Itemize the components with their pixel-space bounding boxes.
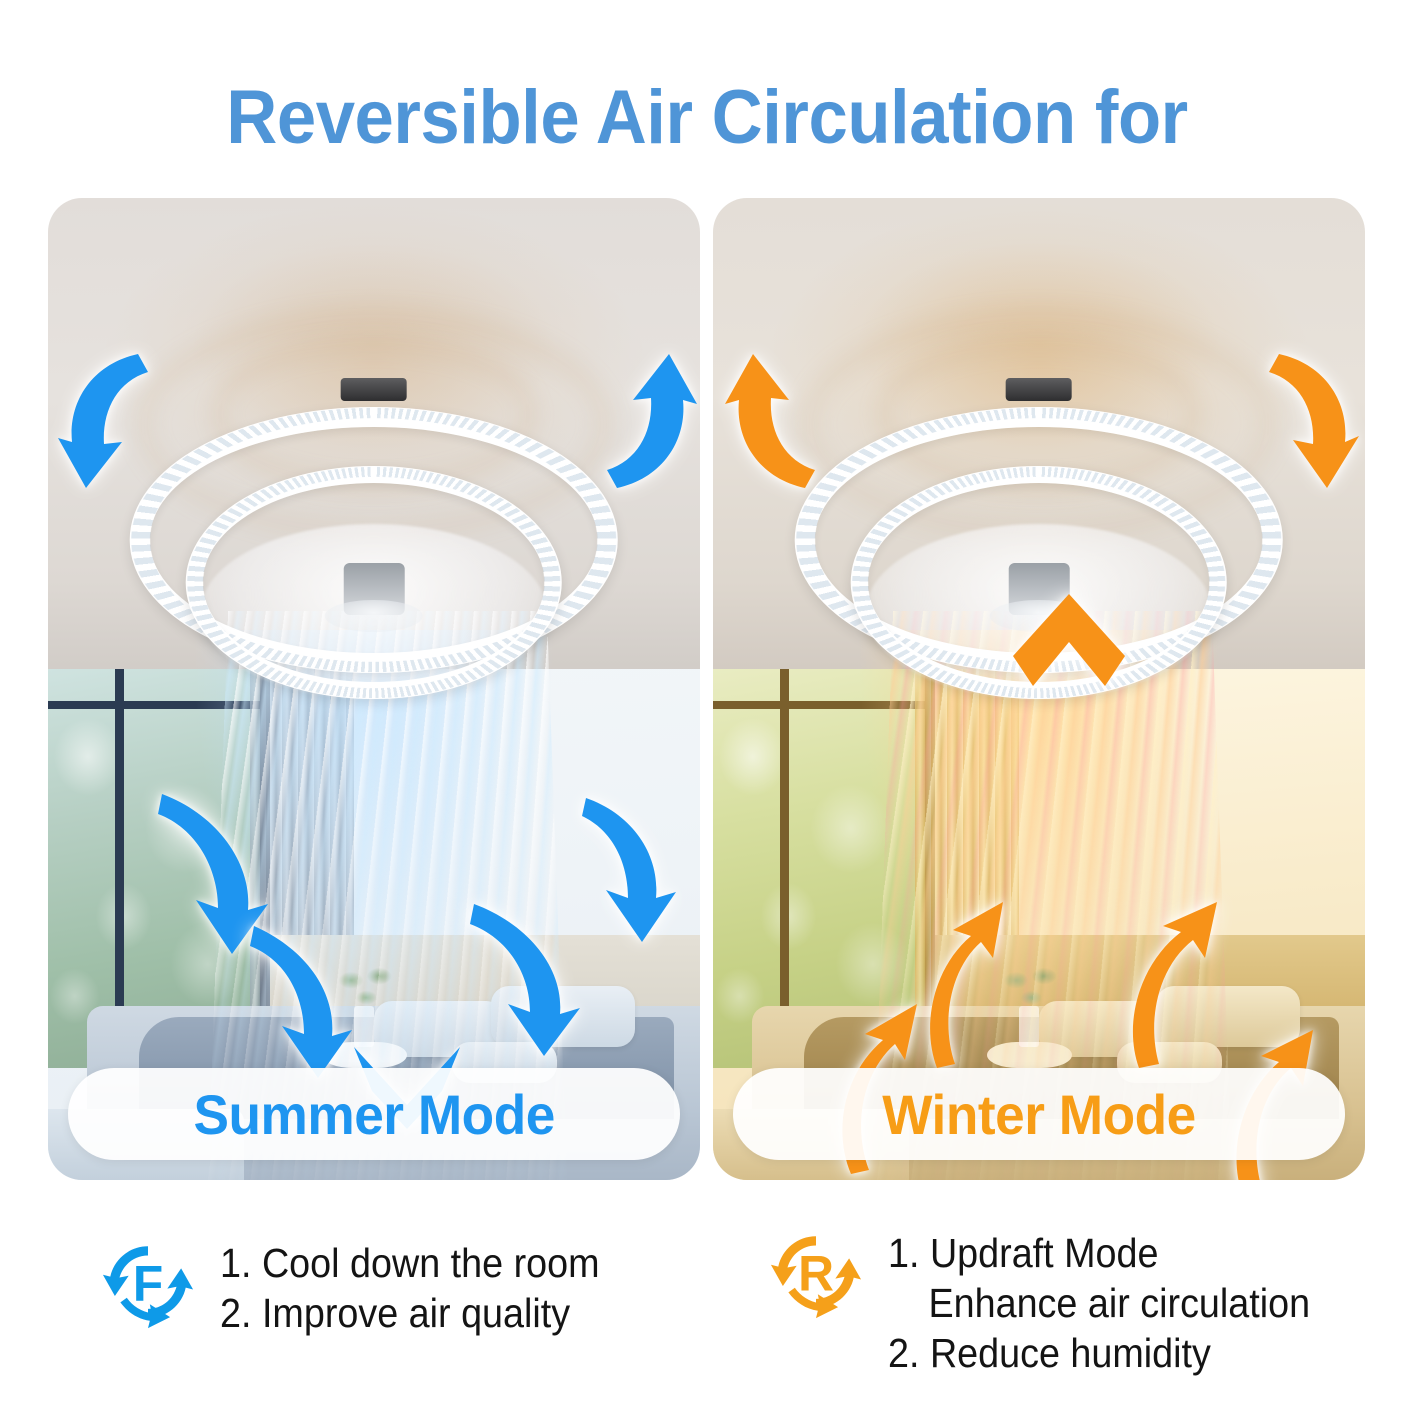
winter-mode-badge: Winter Mode bbox=[733, 1068, 1345, 1160]
summer-mode-panel: Summer Mode bbox=[48, 198, 700, 1180]
page-title: Reversible Air Circulation for bbox=[49, 74, 1364, 161]
summer-feature-block: F 1. Cool down the room 2. Improve air q… bbox=[102, 1238, 633, 1338]
ceiling-fan bbox=[785, 394, 1294, 718]
summer-feature-1: 1. Cool down the room bbox=[220, 1238, 600, 1288]
winter-feature-list: 1. Updraft Mode Enhance air circulation … bbox=[888, 1228, 1310, 1378]
infographic-stage: Reversible Air Circulation for bbox=[0, 0, 1414, 1414]
winter-feature-1: 1. Updraft Mode bbox=[888, 1228, 1310, 1278]
svg-text:R: R bbox=[798, 1246, 834, 1302]
winter-scene bbox=[713, 198, 1365, 1180]
winter-feature-1-sub: Enhance air circulation bbox=[888, 1278, 1310, 1328]
summer-scene bbox=[48, 198, 700, 1180]
winter-feature-block: R 1. Updraft Mode Enhance air circulatio… bbox=[770, 1228, 1347, 1378]
svg-text:F: F bbox=[133, 1256, 163, 1312]
f-cycle-icon: F bbox=[102, 1238, 194, 1330]
pillow bbox=[491, 986, 634, 1047]
plant bbox=[1003, 966, 1062, 1017]
winter-feature-2: 2. Reduce humidity bbox=[888, 1328, 1310, 1378]
r-cycle-icon: R bbox=[770, 1228, 862, 1320]
crystal-ring-inner bbox=[186, 466, 562, 699]
fan-ceiling-mount bbox=[1006, 378, 1072, 401]
plant bbox=[338, 966, 397, 1017]
winter-mode-label: Winter Mode bbox=[882, 1082, 1195, 1147]
summer-feature-list: 1. Cool down the room 2. Improve air qua… bbox=[220, 1238, 600, 1338]
summer-feature-2: 2. Improve air quality bbox=[220, 1288, 600, 1338]
ceiling-fan bbox=[120, 394, 629, 718]
summer-mode-badge: Summer Mode bbox=[68, 1068, 680, 1160]
fan-ceiling-mount bbox=[341, 378, 407, 401]
crystal-ring-inner bbox=[851, 466, 1227, 699]
pillow bbox=[1156, 986, 1299, 1047]
summer-mode-label: Summer Mode bbox=[193, 1082, 554, 1147]
winter-mode-panel: Winter Mode bbox=[713, 198, 1365, 1180]
